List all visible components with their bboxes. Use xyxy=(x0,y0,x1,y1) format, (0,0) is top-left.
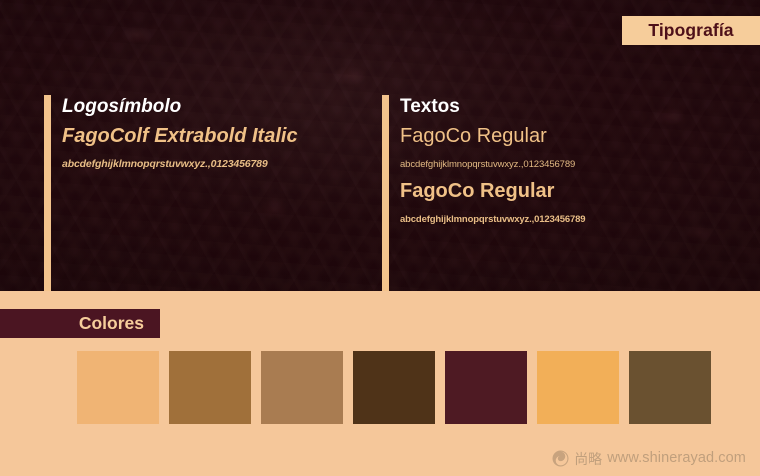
shinerayad-spiral-logo-icon xyxy=(552,450,569,467)
logosimbolo-heading: Logosímbolo xyxy=(62,97,181,117)
textos-bold-font-name: FagoCo Regular xyxy=(400,181,554,202)
watermark: 尚略 www.shinerayad.com xyxy=(552,450,746,467)
tipografia-badge-label: Tipografía xyxy=(648,22,733,40)
logosimbolo-alphabet-sample: abcdefghijklmnopqrstuvwxyz.,0123456789 xyxy=(62,158,268,170)
textos-heading: Textos xyxy=(400,97,460,117)
swatch-ochre xyxy=(169,351,251,424)
colores-badge-label: Colores xyxy=(79,315,144,333)
swatch-camel xyxy=(261,351,343,424)
watermark-url: www.shinerayad.com xyxy=(607,451,746,466)
tipografia-section-badge: Tipografía xyxy=(622,16,760,45)
logosimbolo-accent-bar xyxy=(44,95,51,291)
colores-section-badge: Colores xyxy=(0,309,160,338)
textos-block: Textos FagoCo Regular abcdefghijklmnopqr… xyxy=(382,95,722,291)
swatch-deep-maroon xyxy=(445,351,527,424)
logosimbolo-block: Logosímbolo FagoColf Extrabold Italic ab… xyxy=(44,95,374,291)
swatch-light-tan xyxy=(77,351,159,424)
textos-regular-alphabet-sample: abcdefghijklmnopqrstuvwxyz.,0123456789 xyxy=(400,159,575,170)
watermark-brand-cn: 尚略 xyxy=(574,452,602,466)
swatch-olive-brown xyxy=(629,351,711,424)
logosimbolo-font-name: FagoColf Extrabold Italic xyxy=(62,126,298,147)
textos-regular-font-name: FagoCo Regular xyxy=(400,126,547,147)
textos-accent-bar xyxy=(382,95,389,291)
swatch-amber xyxy=(537,351,619,424)
typography-style-guide-page: Tipografía Logosímbolo FagoColf Extrabol… xyxy=(0,0,760,476)
swatch-dark-brown xyxy=(353,351,435,424)
color-swatch-row xyxy=(77,351,711,424)
textos-bold-alphabet-sample: abcdefghijklmnopqrstuvwxyz.,0123456789 xyxy=(400,214,585,225)
